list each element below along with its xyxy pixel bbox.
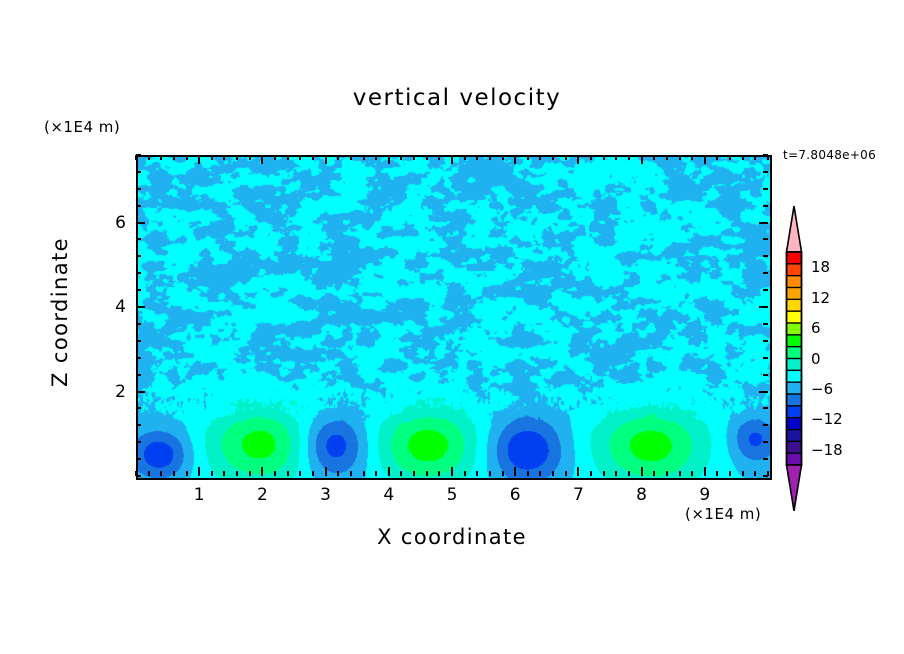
axis-tick <box>615 155 617 160</box>
colorbar-over-cap <box>787 206 802 252</box>
axis-tick <box>413 155 415 160</box>
axis-tick <box>527 155 529 160</box>
axis-tick <box>363 155 365 160</box>
axis-tick <box>763 340 768 342</box>
axis-tick <box>763 255 768 257</box>
colorbar-band <box>787 299 802 311</box>
axis-tick <box>590 155 592 160</box>
colorbar-band <box>787 406 802 418</box>
x-tick-label: 2 <box>257 485 268 505</box>
axis-tick <box>223 155 225 160</box>
axis-tick <box>691 471 693 476</box>
x-tick-label: 9 <box>699 485 710 505</box>
colorbar-band <box>787 453 802 465</box>
axis-tick <box>514 155 516 164</box>
axis-tick <box>476 471 478 476</box>
axis-tick <box>350 155 352 160</box>
axis-tick <box>679 155 681 160</box>
axis-tick <box>375 155 377 160</box>
axis-tick <box>136 357 141 359</box>
axis-tick <box>173 155 175 160</box>
chart-title: vertical velocity <box>0 85 904 111</box>
axis-tick <box>136 306 145 308</box>
axis-tick <box>136 424 141 426</box>
x-tick-label: 4 <box>383 485 394 505</box>
axis-tick <box>249 155 251 160</box>
colorbar-band <box>787 288 802 300</box>
axis-tick <box>426 155 428 160</box>
axis-tick <box>763 171 768 173</box>
axis-tick <box>363 471 365 476</box>
x-tick-label: 7 <box>573 485 584 505</box>
axis-tick <box>552 155 554 160</box>
axis-tick <box>438 155 440 160</box>
colorbar-tick-label: −6 <box>811 380 833 398</box>
axis-tick <box>160 471 162 476</box>
colorbar-band <box>787 418 802 430</box>
axis-tick <box>666 471 668 476</box>
axis-tick <box>136 458 141 460</box>
axis-tick <box>400 155 402 160</box>
colorbar-tick-label: 18 <box>811 258 830 276</box>
axis-tick <box>211 155 213 160</box>
axis-tick <box>136 238 141 240</box>
axis-tick <box>249 471 251 476</box>
colorbar-band <box>787 441 802 453</box>
vertical-velocity-field <box>138 157 770 478</box>
axis-tick <box>236 471 238 476</box>
axis-tick <box>704 467 706 476</box>
axis-tick <box>763 238 768 240</box>
axis-tick <box>502 155 504 160</box>
figure-canvas: vertical velocity (×1E4 m) (×1E4 m) t=7.… <box>0 0 904 654</box>
axis-tick <box>759 306 768 308</box>
axis-tick <box>350 471 352 476</box>
colorbar-band <box>787 335 802 347</box>
axis-tick <box>763 424 768 426</box>
colorbar-under-cap <box>787 465 802 511</box>
axis-tick <box>136 188 141 190</box>
axis-tick <box>729 155 731 160</box>
axis-tick <box>763 188 768 190</box>
axis-tick <box>763 374 768 376</box>
colorbar-band <box>787 370 802 382</box>
colorbar-band <box>787 311 802 323</box>
colorbar-tick-label: 0 <box>811 350 821 368</box>
timestamp-annotation: t=7.8048e+06 <box>783 148 876 162</box>
axis-tick <box>763 357 768 359</box>
axis-tick <box>628 155 630 160</box>
axis-tick <box>763 458 768 460</box>
axis-tick <box>299 155 301 160</box>
colorbar-band <box>787 264 802 276</box>
axis-tick <box>261 155 263 164</box>
axis-tick <box>653 155 655 160</box>
axis-tick <box>388 155 390 164</box>
axis-tick <box>577 155 579 164</box>
axis-tick <box>615 471 617 476</box>
axis-tick <box>464 471 466 476</box>
colorbar-swatches <box>781 206 807 511</box>
axis-tick <box>337 155 339 160</box>
colorbar <box>781 206 807 511</box>
axis-tick <box>136 407 141 409</box>
axis-tick <box>653 471 655 476</box>
axis-tick <box>274 471 276 476</box>
axis-tick <box>136 289 141 291</box>
axis-tick <box>763 272 768 274</box>
axis-tick <box>136 255 141 257</box>
axis-tick <box>763 323 768 325</box>
x-tick-label: 3 <box>320 485 331 505</box>
colorbar-tick-label: −18 <box>811 441 843 459</box>
axis-tick <box>198 155 200 164</box>
axis-tick <box>679 471 681 476</box>
axis-tick <box>325 467 327 476</box>
axis-tick <box>763 154 768 156</box>
axis-tick <box>539 155 541 160</box>
axis-tick <box>136 475 141 477</box>
y-axis-title: Z coordinate <box>48 212 72 412</box>
axis-tick <box>590 471 592 476</box>
axis-tick <box>565 471 567 476</box>
axis-tick <box>136 154 141 156</box>
y-tick-label: 2 <box>102 382 126 402</box>
axis-tick <box>148 155 150 160</box>
colorbar-band <box>787 276 802 288</box>
axis-tick <box>211 471 213 476</box>
colorbar-band <box>787 359 802 371</box>
y-tick-label: 6 <box>102 213 126 233</box>
axis-tick <box>148 471 150 476</box>
axis-tick <box>476 155 478 160</box>
axis-tick <box>763 441 768 443</box>
axis-tick <box>489 155 491 160</box>
axis-tick <box>136 323 141 325</box>
axis-tick <box>763 475 768 477</box>
x-tick-label: 1 <box>194 485 205 505</box>
contour-plot-area <box>136 155 772 480</box>
axis-tick <box>729 471 731 476</box>
axis-tick <box>565 155 567 160</box>
axis-tick <box>641 155 643 164</box>
colorbar-band <box>787 323 802 335</box>
axis-tick <box>691 155 693 160</box>
axis-tick <box>763 289 768 291</box>
axis-tick <box>759 391 768 393</box>
axis-tick <box>223 471 225 476</box>
axis-tick <box>451 155 453 164</box>
axis-tick <box>552 471 554 476</box>
colorbar-band <box>787 252 802 264</box>
colorbar-band <box>787 430 802 442</box>
axis-tick <box>337 471 339 476</box>
axis-tick <box>759 222 768 224</box>
colorbar-tick-label: 6 <box>811 319 821 337</box>
axis-tick <box>426 471 428 476</box>
y-tick-label: 4 <box>102 297 126 317</box>
axis-tick <box>136 374 141 376</box>
axis-tick <box>312 155 314 160</box>
axis-tick <box>287 155 289 160</box>
axis-tick <box>261 467 263 476</box>
colorbar-band <box>787 394 802 406</box>
colorbar-band <box>787 347 802 359</box>
axis-tick <box>400 471 402 476</box>
axis-tick <box>136 205 141 207</box>
axis-tick <box>299 471 301 476</box>
axis-tick <box>603 155 605 160</box>
y-axis-units-label: (×1E4 m) <box>44 118 120 136</box>
axis-tick <box>438 471 440 476</box>
axis-tick <box>754 155 756 160</box>
axis-tick <box>763 407 768 409</box>
axis-tick <box>502 471 504 476</box>
colorbar-band <box>787 382 802 394</box>
axis-tick <box>716 471 718 476</box>
axis-tick <box>236 155 238 160</box>
axis-tick <box>577 467 579 476</box>
axis-tick <box>628 471 630 476</box>
x-tick-label: 8 <box>636 485 647 505</box>
x-tick-label: 5 <box>447 485 458 505</box>
axis-tick <box>173 471 175 476</box>
x-axis-units-label: (×1E4 m) <box>685 505 761 523</box>
axis-tick <box>136 222 145 224</box>
axis-tick <box>641 467 643 476</box>
x-axis-title: X coordinate <box>136 525 768 549</box>
axis-tick <box>136 272 141 274</box>
axis-tick <box>136 171 141 173</box>
axis-tick <box>136 441 141 443</box>
axis-tick <box>136 391 145 393</box>
axis-tick <box>413 471 415 476</box>
axis-tick <box>375 471 377 476</box>
axis-tick <box>325 155 327 164</box>
axis-tick <box>186 155 188 160</box>
axis-tick <box>489 471 491 476</box>
axis-tick <box>754 471 756 476</box>
axis-tick <box>742 155 744 160</box>
axis-tick <box>388 467 390 476</box>
x-tick-label: 6 <box>510 485 521 505</box>
axis-tick <box>198 467 200 476</box>
axis-tick <box>274 155 276 160</box>
axis-tick <box>186 471 188 476</box>
axis-tick <box>451 467 453 476</box>
axis-tick <box>312 471 314 476</box>
axis-tick <box>514 467 516 476</box>
chart-title-text: vertical velocity <box>343 85 561 111</box>
axis-tick <box>287 471 289 476</box>
axis-tick <box>527 471 529 476</box>
axis-tick <box>160 155 162 160</box>
axis-tick <box>704 155 706 164</box>
axis-tick <box>464 155 466 160</box>
axis-tick <box>742 471 744 476</box>
axis-tick <box>666 155 668 160</box>
axis-tick <box>136 340 141 342</box>
colorbar-tick-label: 12 <box>811 289 830 307</box>
axis-tick <box>763 205 768 207</box>
axis-tick <box>603 471 605 476</box>
axis-tick <box>716 155 718 160</box>
colorbar-tick-label: −12 <box>811 410 843 428</box>
axis-tick <box>539 471 541 476</box>
